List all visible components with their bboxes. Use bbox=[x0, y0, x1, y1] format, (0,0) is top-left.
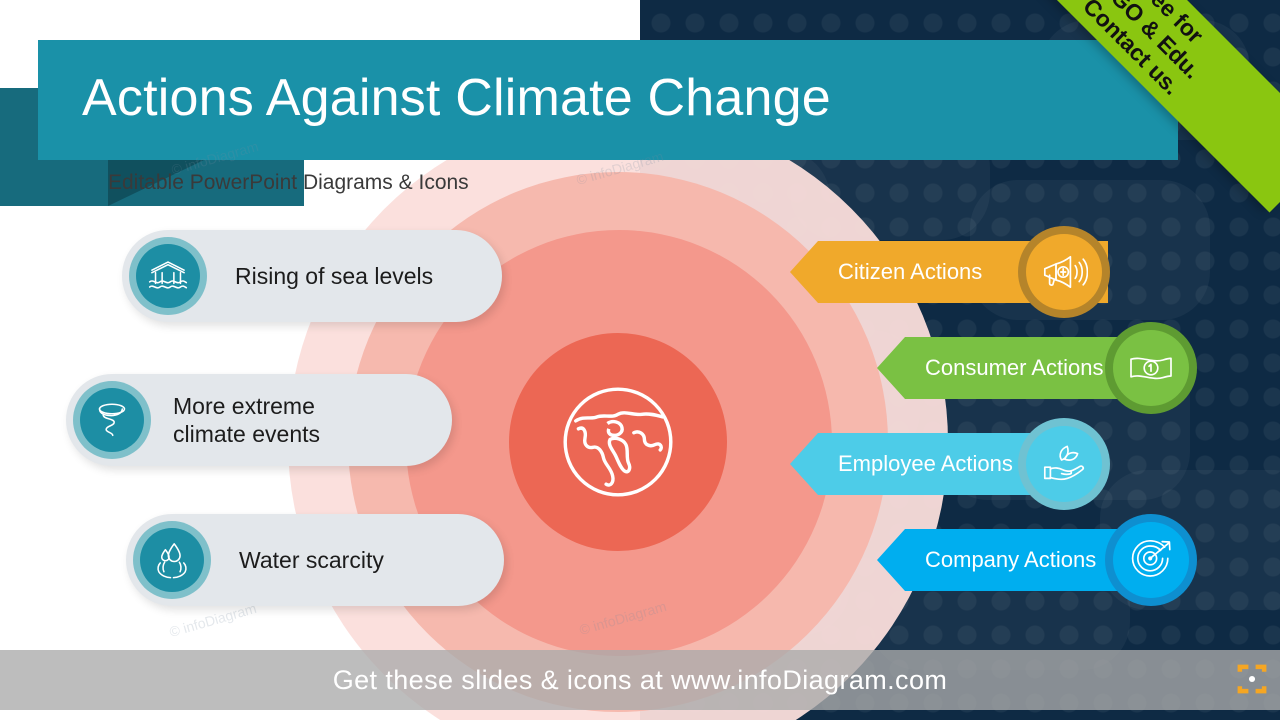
page-title: Actions Against Climate Change bbox=[82, 68, 831, 128]
hand-leaf-icon bbox=[1040, 440, 1088, 488]
action-item-company[interactable]: Company Actions bbox=[877, 529, 1096, 591]
banknote-icon bbox=[1127, 344, 1175, 392]
impact-label: Water scarcity bbox=[239, 546, 384, 574]
impact-pill-water-scarcity[interactable]: Water scarcity bbox=[126, 514, 504, 606]
impact-icon-ring bbox=[73, 381, 151, 459]
chevron-point bbox=[877, 529, 905, 591]
action-badge-citizen bbox=[1018, 226, 1110, 318]
action-label: Consumer Actions bbox=[925, 355, 1104, 381]
action-label: Citizen Actions bbox=[838, 259, 982, 285]
impact-icon-ring bbox=[129, 237, 207, 315]
badge-inner bbox=[1026, 426, 1102, 502]
slide-canvas: © infoDiagram Actions Against Climate Ch… bbox=[0, 0, 1280, 720]
water-drops-hands-icon bbox=[140, 528, 204, 592]
impact-label: Rising of sea levels bbox=[235, 262, 435, 290]
tornado-icon bbox=[80, 388, 144, 452]
chevron-point bbox=[790, 433, 818, 495]
white-background-strip bbox=[0, 0, 640, 40]
target-icon bbox=[1127, 536, 1175, 584]
action-item-citizen[interactable]: Citizen Actions bbox=[790, 241, 982, 303]
action-badge-company bbox=[1105, 514, 1197, 606]
chevron-point bbox=[877, 337, 905, 399]
footer-link[interactable]: Get these slides & icons at www.infoDiag… bbox=[0, 650, 1280, 710]
impact-pill-rising-sea-levels[interactable]: Rising of sea levels bbox=[122, 230, 502, 322]
action-badge-consumer bbox=[1105, 322, 1197, 414]
action-label: Company Actions bbox=[925, 547, 1096, 573]
action-item-employee[interactable]: Employee Actions bbox=[790, 433, 1013, 495]
megaphone-icon bbox=[1040, 248, 1088, 296]
globe-icon bbox=[552, 376, 684, 508]
badge-inner bbox=[1113, 522, 1189, 598]
badge-inner bbox=[1113, 330, 1189, 406]
impact-pill-extreme-climate-events[interactable]: More extreme climate events bbox=[66, 374, 452, 466]
impact-icon-ring bbox=[133, 521, 211, 599]
badge-inner bbox=[1026, 234, 1102, 310]
chevron-point bbox=[790, 241, 818, 303]
page-subtitle: Editable PowerPoint Diagrams & Icons bbox=[108, 171, 469, 195]
impact-label: More extreme climate events bbox=[173, 392, 383, 448]
action-label: Employee Actions bbox=[838, 451, 1013, 477]
action-badge-employee bbox=[1018, 418, 1110, 510]
infodiagram-logo[interactable] bbox=[1234, 660, 1270, 698]
flooded-house-icon bbox=[136, 244, 200, 308]
action-item-consumer[interactable]: Consumer Actions bbox=[877, 337, 1104, 399]
